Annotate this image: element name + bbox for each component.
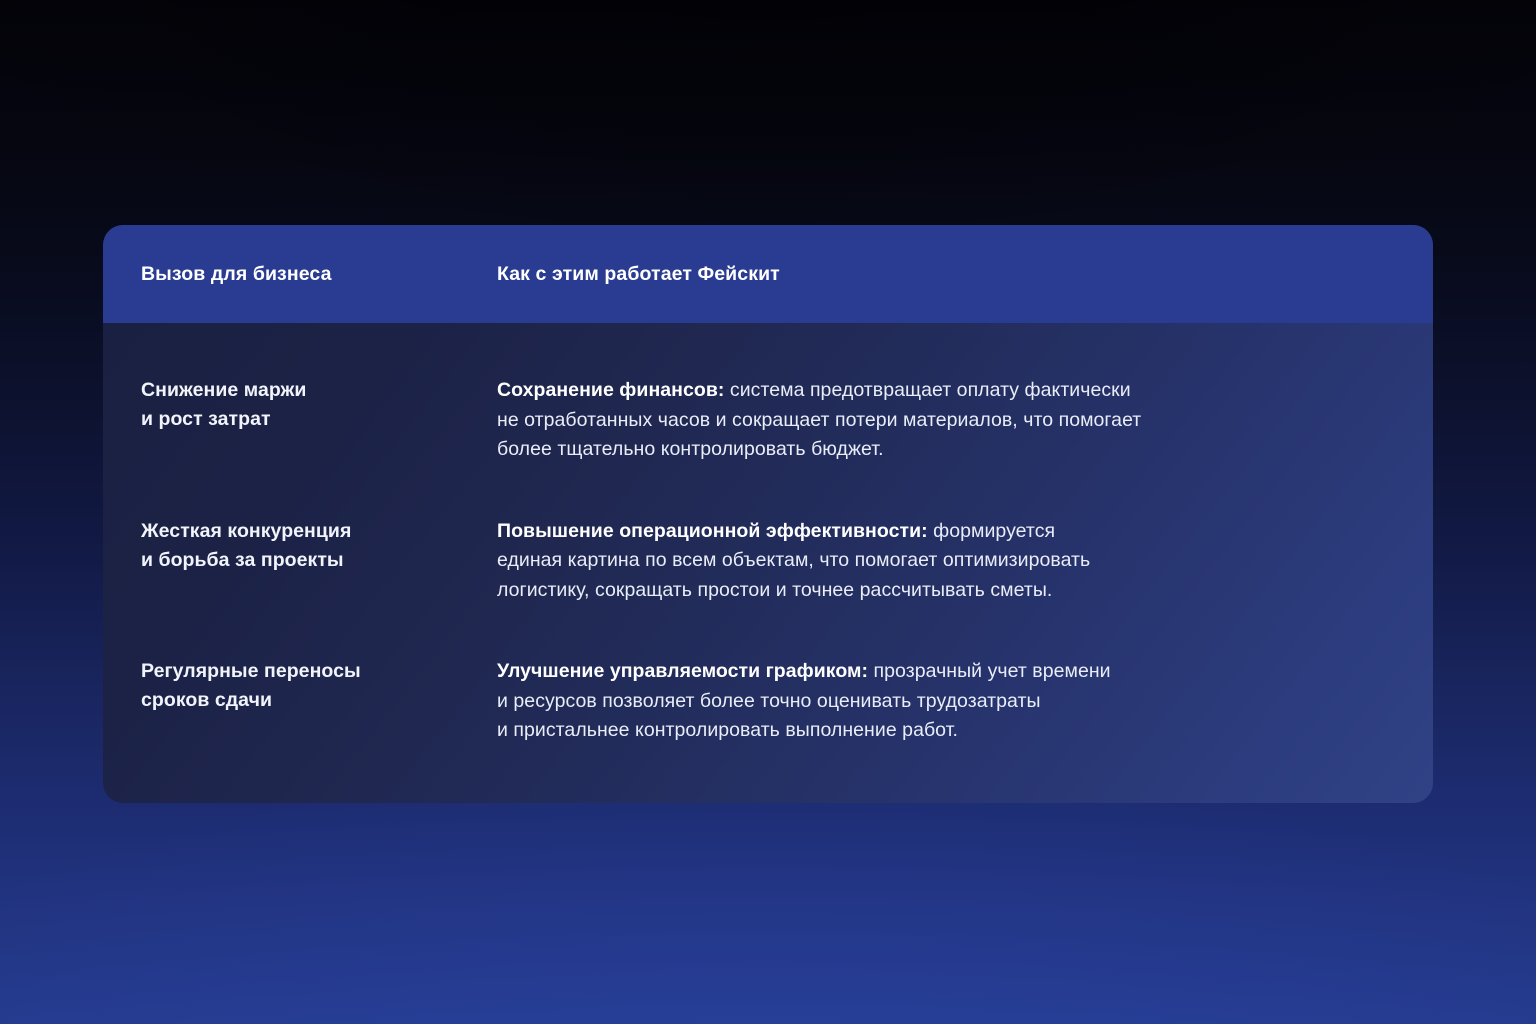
solution-paragraph: Сохранение финансов: система предотвраща… — [497, 376, 1373, 465]
solution-lead: Улучшение управляемости графиком: — [497, 660, 868, 682]
column-header-challenge: Вызов для бизнеса — [141, 263, 497, 286]
solution-paragraph: Улучшение управляемости графиком: прозра… — [497, 657, 1373, 746]
row-challenge-cell: Жесткая конкуренция и борьба за проекты — [103, 517, 497, 575]
comparison-card: Вызов для бизнеса Как с этим работает Фе… — [103, 225, 1433, 803]
challenge-text: Регулярные переносы сроков сдачи — [141, 657, 497, 715]
row-solution-cell: Повышение операционной эффективности: фо… — [497, 517, 1433, 606]
solution-paragraph: Повышение операционной эффективности: фо… — [497, 517, 1373, 606]
solution-lead: Сохранение финансов: — [497, 379, 724, 401]
column-header-solution: Как с этим работает Фейскит — [497, 263, 1433, 286]
header-cell-challenge: Вызов для бизнеса — [103, 263, 497, 286]
table-row: Регулярные переносы сроков сдачи Улучшен… — [103, 605, 1433, 746]
table-body: Снижение маржи и рост затрат Сохранение … — [103, 323, 1433, 746]
table-row: Снижение маржи и рост затрат Сохранение … — [103, 323, 1433, 465]
challenge-text: Снижение маржи и рост затрат — [141, 376, 497, 434]
page-background: Вызов для бизнеса Как с этим работает Фе… — [0, 0, 1536, 1024]
challenge-text: Жесткая конкуренция и борьба за проекты — [141, 517, 497, 575]
header-cell-solution: Как с этим работает Фейскит — [497, 263, 1433, 286]
row-solution-cell: Сохранение финансов: система предотвраща… — [497, 376, 1433, 465]
row-challenge-cell: Снижение маржи и рост затрат — [103, 376, 497, 434]
table-header-row: Вызов для бизнеса Как с этим работает Фе… — [103, 225, 1433, 323]
row-challenge-cell: Регулярные переносы сроков сдачи — [103, 657, 497, 715]
table-row: Жесткая конкуренция и борьба за проекты … — [103, 465, 1433, 606]
solution-lead: Повышение операционной эффективности: — [497, 520, 928, 542]
row-solution-cell: Улучшение управляемости графиком: прозра… — [497, 657, 1433, 746]
